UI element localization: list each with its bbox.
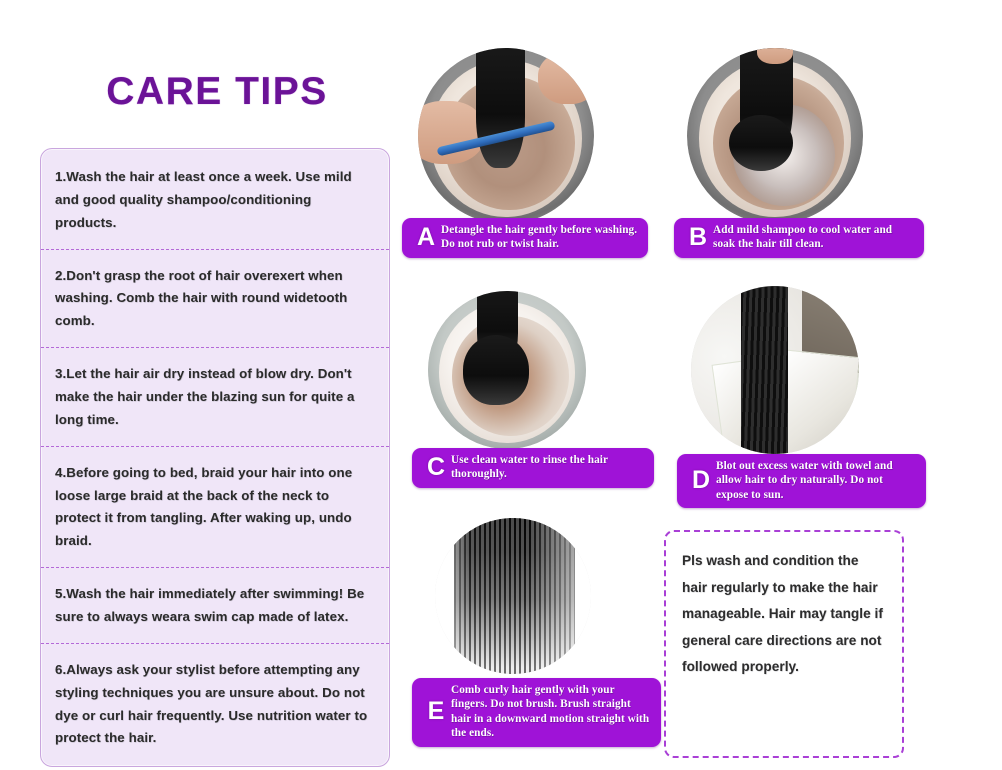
left-column: CARE TIPS 1.Wash the hair at least once … [40,70,390,767]
list-item: 6.Always ask your stylist before attempt… [41,643,389,764]
step-letter-a: A [411,225,441,250]
list-item: 1.Wash the hair at least once a week. Us… [41,151,389,249]
step-caption-c: Use clean water to rinse the hair thorou… [451,453,644,482]
step-letter-d: D [686,468,716,493]
step-caption-a: Detangle the hair gently before washing.… [441,223,638,252]
step-letter-e: E [421,699,451,724]
step-caption-b: Add mild shampoo to cool water and soak … [713,223,914,252]
step-caption-e: Comb curly hair gently with your fingers… [451,683,651,741]
step-a: A Detangle the hair gently before washin… [418,48,594,224]
photo-hair-bundle-comb-over-basin [418,48,594,224]
photo-hair-soaking-in-sudsy-basin [687,48,863,224]
list-item: 5.Wash the hair immediately after swimmi… [41,567,389,643]
step-letter-b: B [683,225,713,250]
caption-d: D Blot out excess water with towel and a… [677,454,926,508]
list-item: 4.Before going to bed, braid your hair i… [41,446,389,567]
caption-b: B Add mild shampoo to cool water and soa… [674,218,924,258]
photo-wet-hair-blotted-with-towel [691,286,859,454]
step-b: B Add mild shampoo to cool water and soa… [687,48,863,224]
photo-wet-hair-strands-drying [435,518,591,674]
step-d: D Blot out excess water with towel and a… [691,286,859,454]
care-tips-list: 1.Wash the hair at least once a week. Us… [40,148,390,767]
caption-e: E Comb curly hair gently with your finge… [412,678,661,747]
list-item: 3.Let the hair air dry instead of blow d… [41,347,389,446]
list-item: 2.Don't grasp the root of hair overexert… [41,249,389,348]
care-note-text: Pls wash and condition the hair regularl… [682,548,887,681]
step-c: C Use clean water to rinse the hair thor… [428,291,586,449]
step-caption-d: Blot out excess water with towel and all… [716,459,916,502]
caption-c: C Use clean water to rinse the hair thor… [412,448,654,488]
care-note-box: Pls wash and condition the hair regularl… [664,530,904,758]
caption-a: A Detangle the hair gently before washin… [402,218,648,258]
care-tips-infographic: CARE TIPS 1.Wash the hair at least once … [0,0,1002,770]
step-letter-c: C [421,455,451,480]
photo-hair-rinsing-in-clean-water-basin [428,291,586,449]
page-title: CARE TIPS [40,70,390,114]
step-e: E Comb curly hair gently with your finge… [435,518,591,674]
